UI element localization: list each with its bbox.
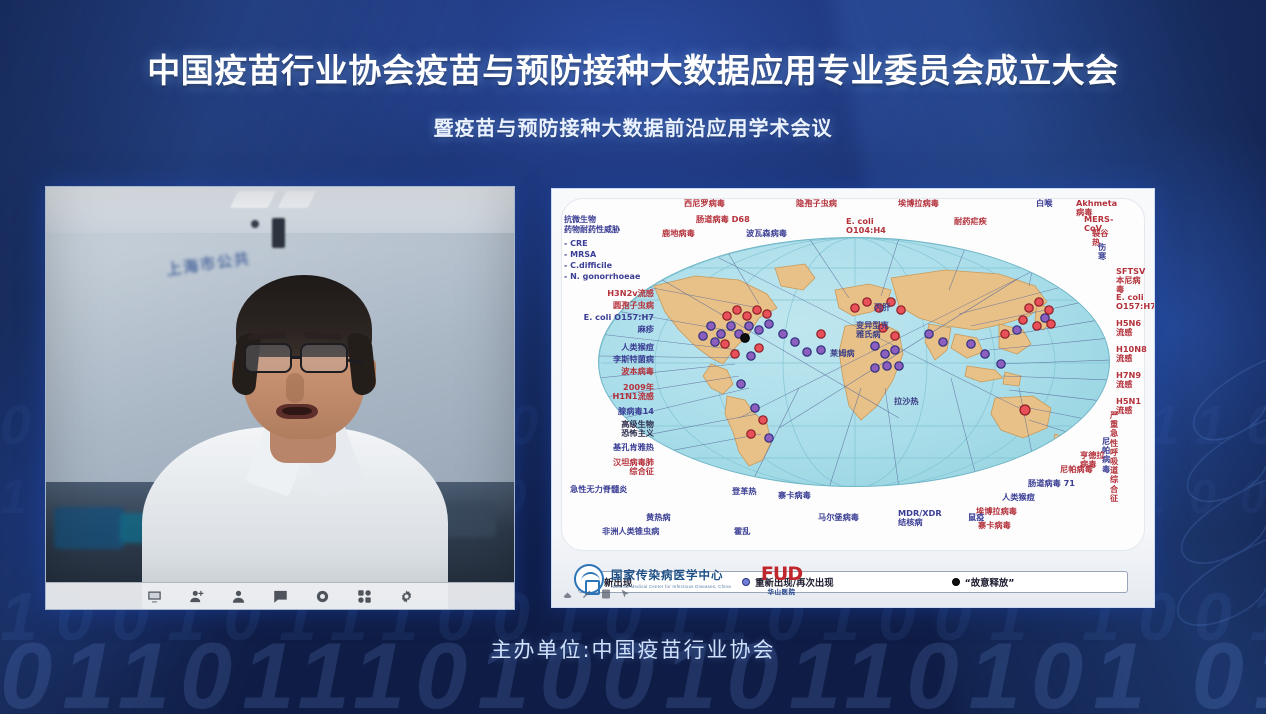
eraser-icon[interactable] xyxy=(562,587,574,599)
eyeglasses-lens-right xyxy=(300,343,348,373)
huashan-logo-cn: 华山医院 xyxy=(768,586,796,596)
legend-item-deliberate: “故意释放” xyxy=(952,575,1015,589)
record-icon[interactable] xyxy=(314,588,330,604)
world-outbreak-map: 抗微生物 药物耐药性威胁 - CRE - MRSA - C.difficile … xyxy=(598,237,1110,487)
fudan-huashan-logo: FUD 华山医院 xyxy=(761,563,802,596)
chat-icon[interactable] xyxy=(272,588,288,604)
legend-label: “故意释放” xyxy=(965,575,1015,589)
layout-grid-icon[interactable] xyxy=(356,588,372,604)
video-toolbar[interactable] xyxy=(46,582,514,609)
slide-annotation-tools[interactable] xyxy=(562,587,631,599)
header: 中国疫苗行业协会疫苗与预防接种大数据应用专业委员会成立大会 暨疫苗与预防接种大数… xyxy=(0,0,1266,141)
eyeglasses-lens-left xyxy=(244,343,292,373)
page-title: 中国疫苗行业协会疫苗与预防接种大数据应用专业委员会成立大会 xyxy=(0,44,1266,92)
globe-graphic xyxy=(598,237,1110,487)
wall-object xyxy=(251,220,259,228)
add-participant-icon[interactable] xyxy=(188,588,204,604)
speaker-video-panel[interactable]: 上海市公共 xyxy=(45,186,515,610)
shared-screen-panel[interactable]: 抗微生物 药物耐药性威胁 - CRE - MRSA - C.difficile … xyxy=(551,188,1155,608)
page-subtitle: 暨疫苗与预防接种大数据前沿应用学术会议 xyxy=(0,112,1266,141)
desk-object xyxy=(54,507,124,549)
eyeglasses-bridge xyxy=(292,356,300,359)
speaker-mouth-inner xyxy=(282,407,312,415)
note-icon[interactable] xyxy=(600,587,612,599)
organizer-footer: 主办单位:中国疫苗行业协会 xyxy=(0,634,1266,664)
fudan-logo-mark-prefix: FU xyxy=(761,563,787,585)
ncid-logo-cn: 国家传染病医学中心 xyxy=(611,569,731,582)
pointer-icon[interactable] xyxy=(619,587,631,599)
wall-object xyxy=(272,218,285,248)
fudan-logo-mark: FUD xyxy=(761,563,802,585)
fudan-logo-mark-accent: D xyxy=(787,563,802,585)
speaker-hair-side xyxy=(347,332,377,396)
speaker-nose xyxy=(286,373,304,403)
ncid-logo-text: 国家传染病医学中心 National Medical Center for In… xyxy=(611,569,731,588)
slide-content: 抗微生物 药物耐药性威胁 - CRE - MRSA - C.difficile … xyxy=(552,189,1154,607)
screen-share-icon[interactable] xyxy=(146,588,162,604)
video-scene: 上海市公共 xyxy=(46,187,514,609)
settings-gear-icon[interactable] xyxy=(398,588,414,604)
legend-marker-black-icon xyxy=(952,578,960,586)
pen-icon[interactable] xyxy=(581,587,593,599)
participants-icon[interactable] xyxy=(230,588,246,604)
speaker-person xyxy=(164,249,424,609)
